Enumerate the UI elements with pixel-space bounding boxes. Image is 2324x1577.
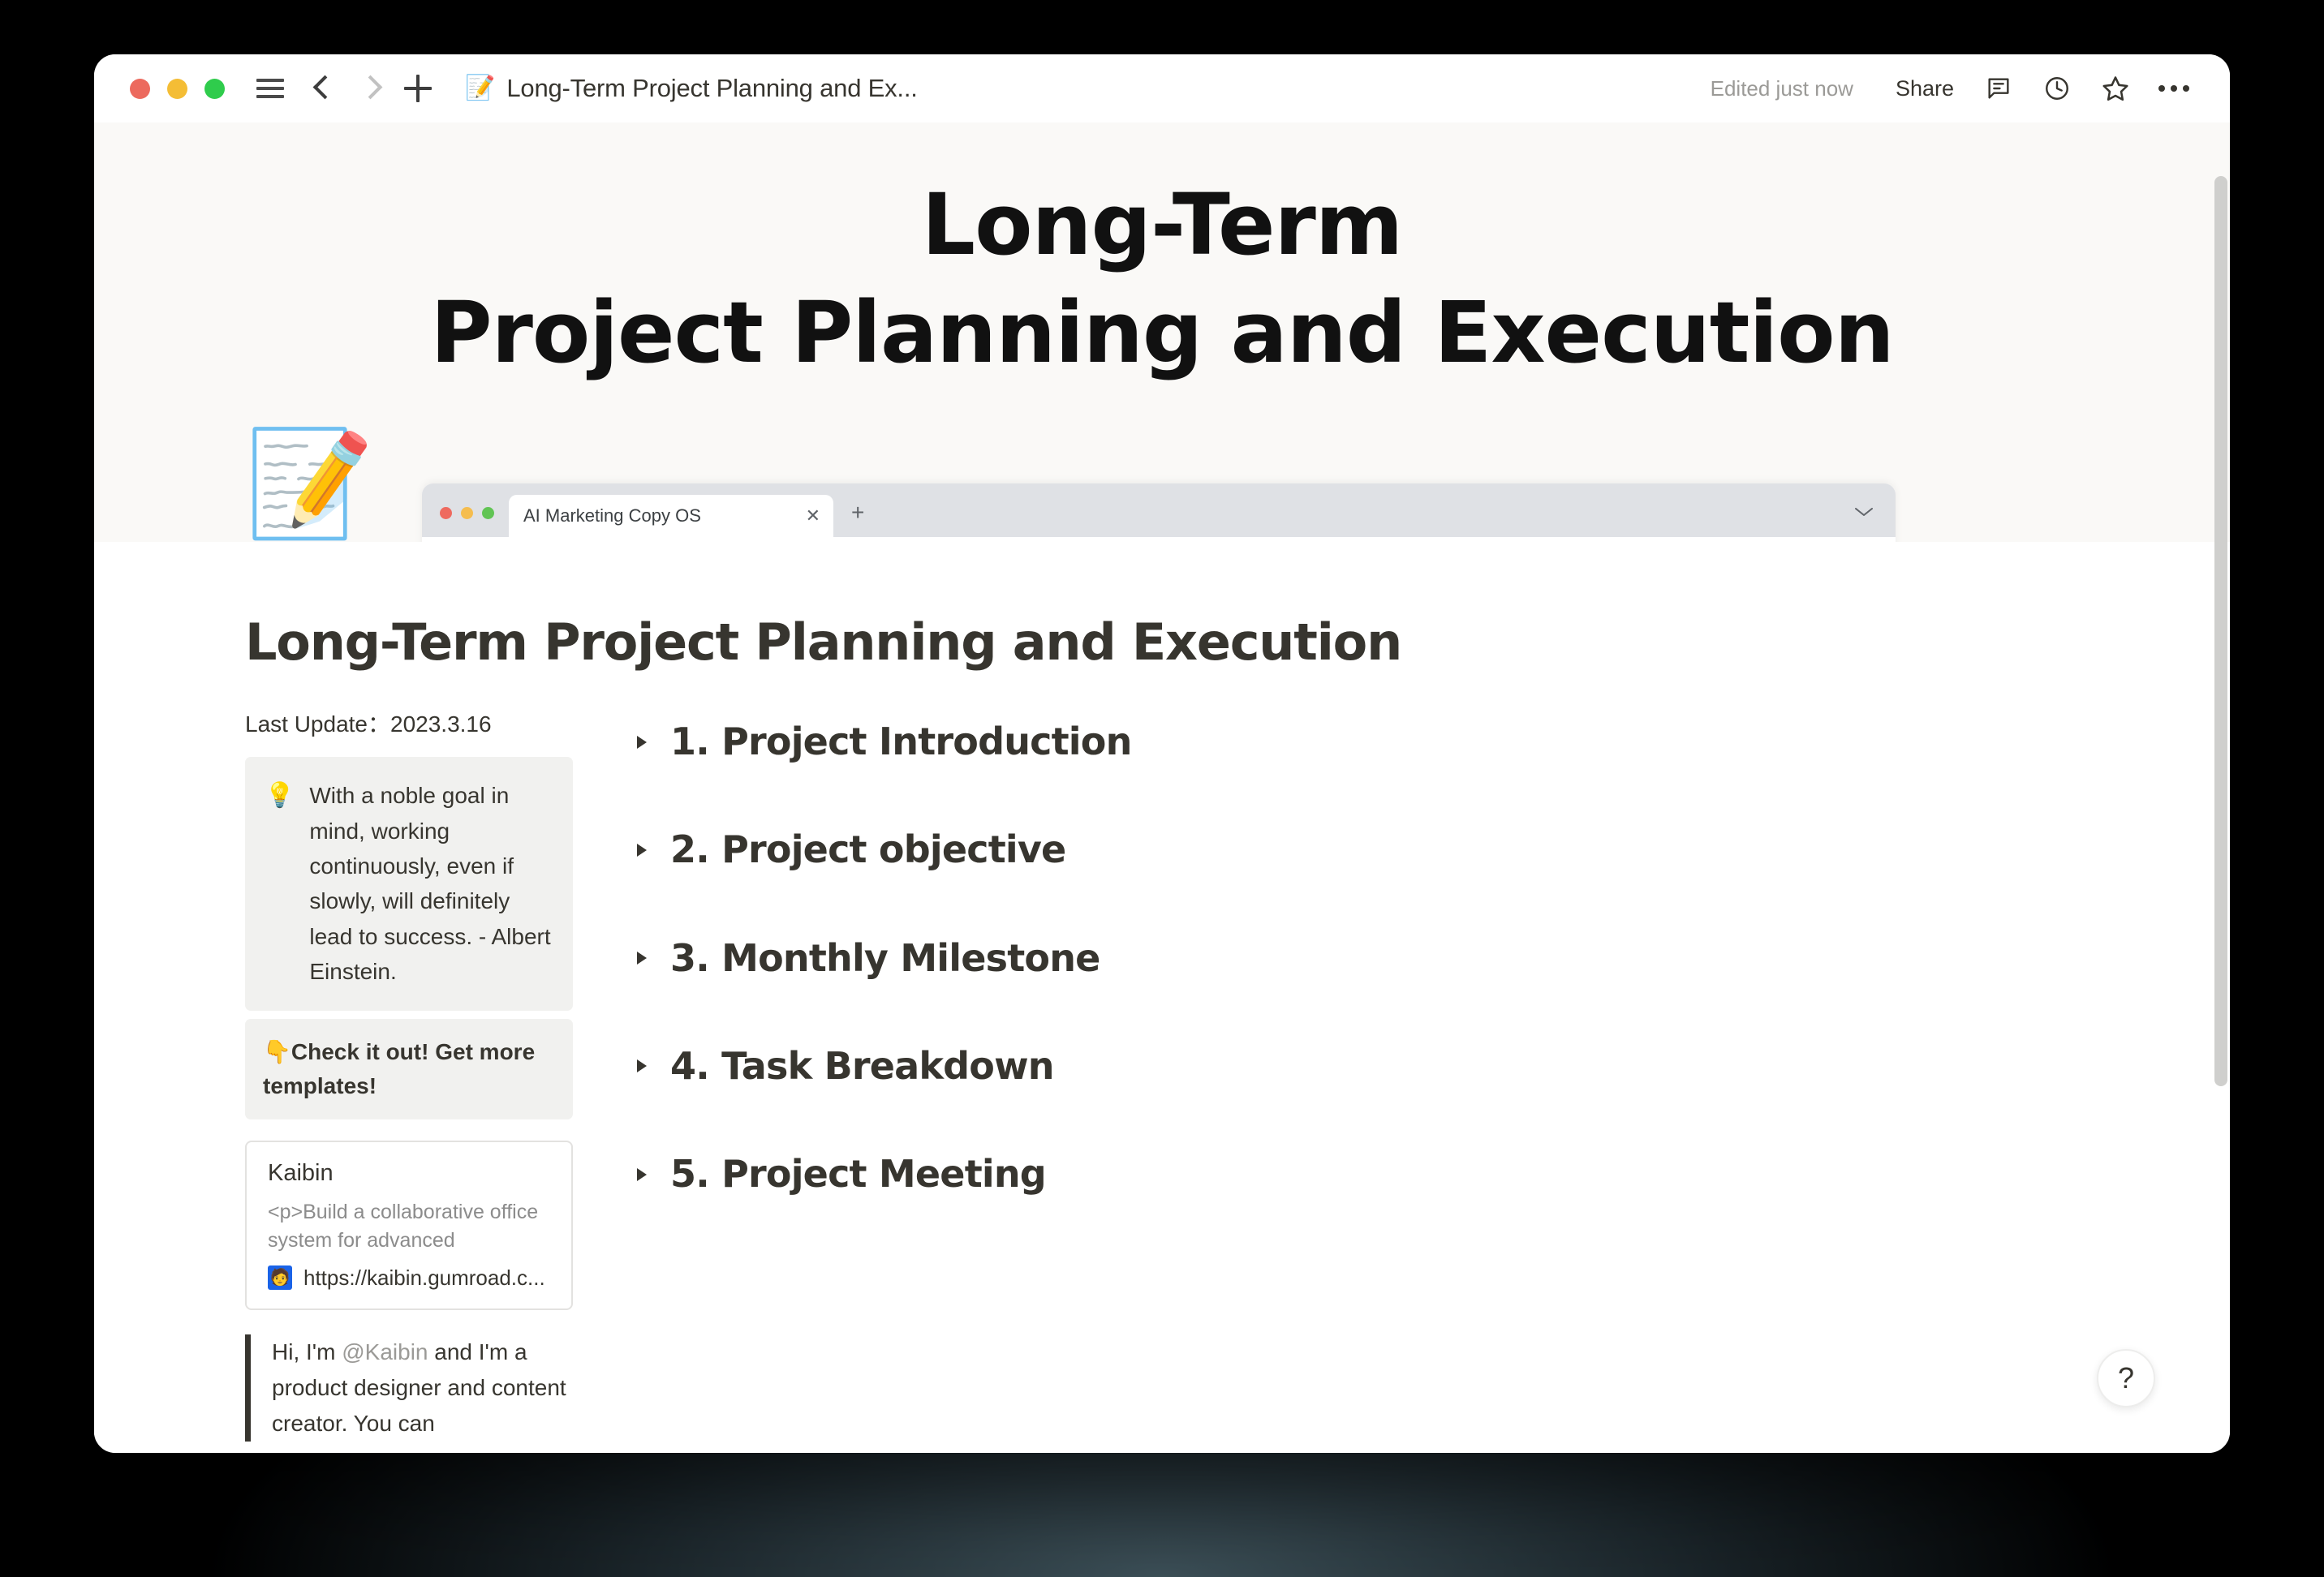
quote-callout[interactable]: 💡 With a noble goal in mind, working con…: [245, 757, 573, 1010]
promo-callout[interactable]: 👇Check it out! Get more templates!: [245, 1019, 573, 1119]
toggle-heading-2[interactable]: 2. Project objective: [633, 827, 2132, 872]
cover-browser-mockup: AI Marketing Copy OS ✕ +: [422, 483, 1896, 542]
toggle-heading-5[interactable]: 5. Project Meeting: [633, 1152, 2132, 1197]
titlebar-actions: Edited just now Share: [1711, 64, 2199, 113]
user-mention[interactable]: @Kaibin: [342, 1339, 428, 1364]
cover-title: Long-Term Project Planning and Execution: [94, 171, 2230, 387]
cover-browser-tabbar: AI Marketing Copy OS ✕ +: [422, 483, 1896, 537]
sidebar-toggle-button[interactable]: [252, 67, 288, 110]
clock-history-icon: [2043, 75, 2071, 102]
toggle-heading-label: 1. Project Introduction: [670, 720, 1132, 764]
promo-callout-text: 👇Check it out! Get more templates!: [263, 1035, 555, 1103]
navigate-forward-button[interactable]: [353, 67, 389, 110]
more-options-button[interactable]: [2149, 64, 2199, 113]
comment-bubble-icon: [1985, 75, 2012, 102]
toggle-heading-label: 3. Monthly Milestone: [670, 936, 1100, 981]
favorite-button[interactable]: [2090, 64, 2141, 113]
plus-icon: [404, 75, 432, 102]
triangle-right-icon[interactable]: [633, 949, 651, 967]
notion-app-window: 📝 Long-Term Project Planning and Ex... E…: [94, 54, 2230, 1453]
bookmark-favicon-icon: 🧑: [268, 1265, 292, 1290]
vertical-scrollbar[interactable]: [2212, 122, 2230, 1453]
more-horizontal-icon: [2158, 85, 2189, 92]
toggle-heading-4[interactable]: 4. Task Breakdown: [633, 1044, 2132, 1089]
page-cover-image[interactable]: Long-Term Project Planning and Execution…: [94, 122, 2230, 542]
breadcrumb[interactable]: 📝 Long-Term Project Planning and Ex...: [457, 69, 926, 108]
scrollbar-thumb[interactable]: [2214, 176, 2227, 1086]
last-update-label: Last Update：: [245, 711, 390, 737]
page-history-button[interactable]: [2032, 64, 2082, 113]
window-titlebar: 📝 Long-Term Project Planning and Ex... E…: [94, 54, 2230, 122]
comments-button[interactable]: [1973, 64, 2024, 113]
right-column: 1. Project Introduction 2. Project objec…: [573, 707, 2132, 1260]
content-columns: Last Update：2023.3.16 💡 With a noble goa…: [245, 707, 2132, 1442]
page-body: Long-Term Project Planning and Execution…: [94, 542, 2230, 1442]
close-window-button[interactable]: [130, 79, 150, 99]
plus-icon: +: [851, 501, 864, 524]
bookmark-card[interactable]: Kaibin <p>Build a collaborative office s…: [245, 1141, 573, 1310]
cover-browser-traffic-lights: [440, 507, 494, 537]
edit-status-text: Edited just now: [1711, 76, 1853, 101]
navigate-back-button[interactable]: [306, 67, 342, 110]
bookmark-title: Kaibin: [268, 1160, 552, 1187]
toggle-heading-label: 2. Project objective: [670, 827, 1065, 872]
last-update-line: Last Update：2023.3.16: [245, 707, 573, 739]
cover-maximize-dot: [482, 507, 494, 519]
cover-minimize-dot: [461, 507, 473, 519]
intro-quote-before: Hi, I'm: [272, 1339, 342, 1364]
toggle-heading-label: 5. Project Meeting: [670, 1152, 1046, 1197]
bookmark-link-row: 🧑 https://kaibin.gumroad.c...: [268, 1265, 552, 1291]
cover-title-line2: Project Planning and Execution: [94, 279, 2230, 387]
chevron-down-icon: [1853, 505, 1874, 522]
share-button[interactable]: Share: [1884, 68, 1965, 110]
intro-quote-text: Hi, I'm @Kaibin and I'm a product design…: [272, 1334, 573, 1442]
page-title[interactable]: Long-Term Project Planning and Execution: [245, 613, 2132, 671]
help-button[interactable]: ?: [2097, 1349, 2155, 1407]
page-scroll-area: Long-Term Project Planning and Execution…: [94, 122, 2230, 1453]
toggle-heading-label: 4. Task Breakdown: [670, 1044, 1054, 1089]
intro-quote-block[interactable]: Hi, I'm @Kaibin and I'm a product design…: [245, 1334, 573, 1442]
toggle-heading-3[interactable]: 3. Monthly Milestone: [633, 936, 2132, 981]
memo-icon: 📝: [465, 76, 495, 101]
bookmark-url: https://kaibin.gumroad.c...: [303, 1265, 545, 1291]
quote-callout-text: With a noble goal in mind, working conti…: [309, 778, 552, 989]
promo-callout-label: Check it out! Get more templates!: [263, 1039, 535, 1098]
breadcrumb-page-title: Long-Term Project Planning and Ex...: [506, 74, 917, 103]
last-update-value: 2023.3.16: [390, 711, 492, 737]
page-memo-icon[interactable]: 📝: [245, 432, 374, 536]
desktop-backdrop: 📝 Long-Term Project Planning and Ex... E…: [0, 0, 2324, 1577]
hamburger-icon: [256, 79, 284, 98]
chevron-left-icon: [315, 73, 333, 104]
cover-browser-tab: AI Marketing Copy OS ✕: [509, 495, 833, 537]
triangle-right-icon[interactable]: [633, 1057, 651, 1075]
lightbulb-icon: 💡: [265, 778, 295, 814]
left-column: Last Update：2023.3.16 💡 With a noble goa…: [245, 707, 573, 1442]
traffic-lights: [130, 79, 225, 99]
triangle-right-icon[interactable]: [633, 733, 651, 751]
triangle-right-icon[interactable]: [633, 1166, 651, 1184]
cover-browser-tab-label: AI Marketing Copy OS: [523, 505, 796, 526]
star-icon: [2101, 74, 2130, 103]
pointing-down-icon: 👇: [263, 1039, 291, 1064]
triangle-right-icon[interactable]: [633, 841, 651, 859]
maximize-window-button[interactable]: [204, 79, 225, 99]
minimize-window-button[interactable]: [167, 79, 187, 99]
close-icon: ✕: [806, 507, 820, 525]
bookmark-description: <p>Build a collaborative office system f…: [268, 1198, 552, 1256]
new-page-button[interactable]: [400, 67, 436, 110]
cover-close-dot: [440, 507, 452, 519]
chevron-right-icon: [362, 73, 380, 104]
cover-title-line1: Long-Term: [94, 171, 2230, 279]
toggle-heading-1[interactable]: 1. Project Introduction: [633, 720, 2132, 764]
